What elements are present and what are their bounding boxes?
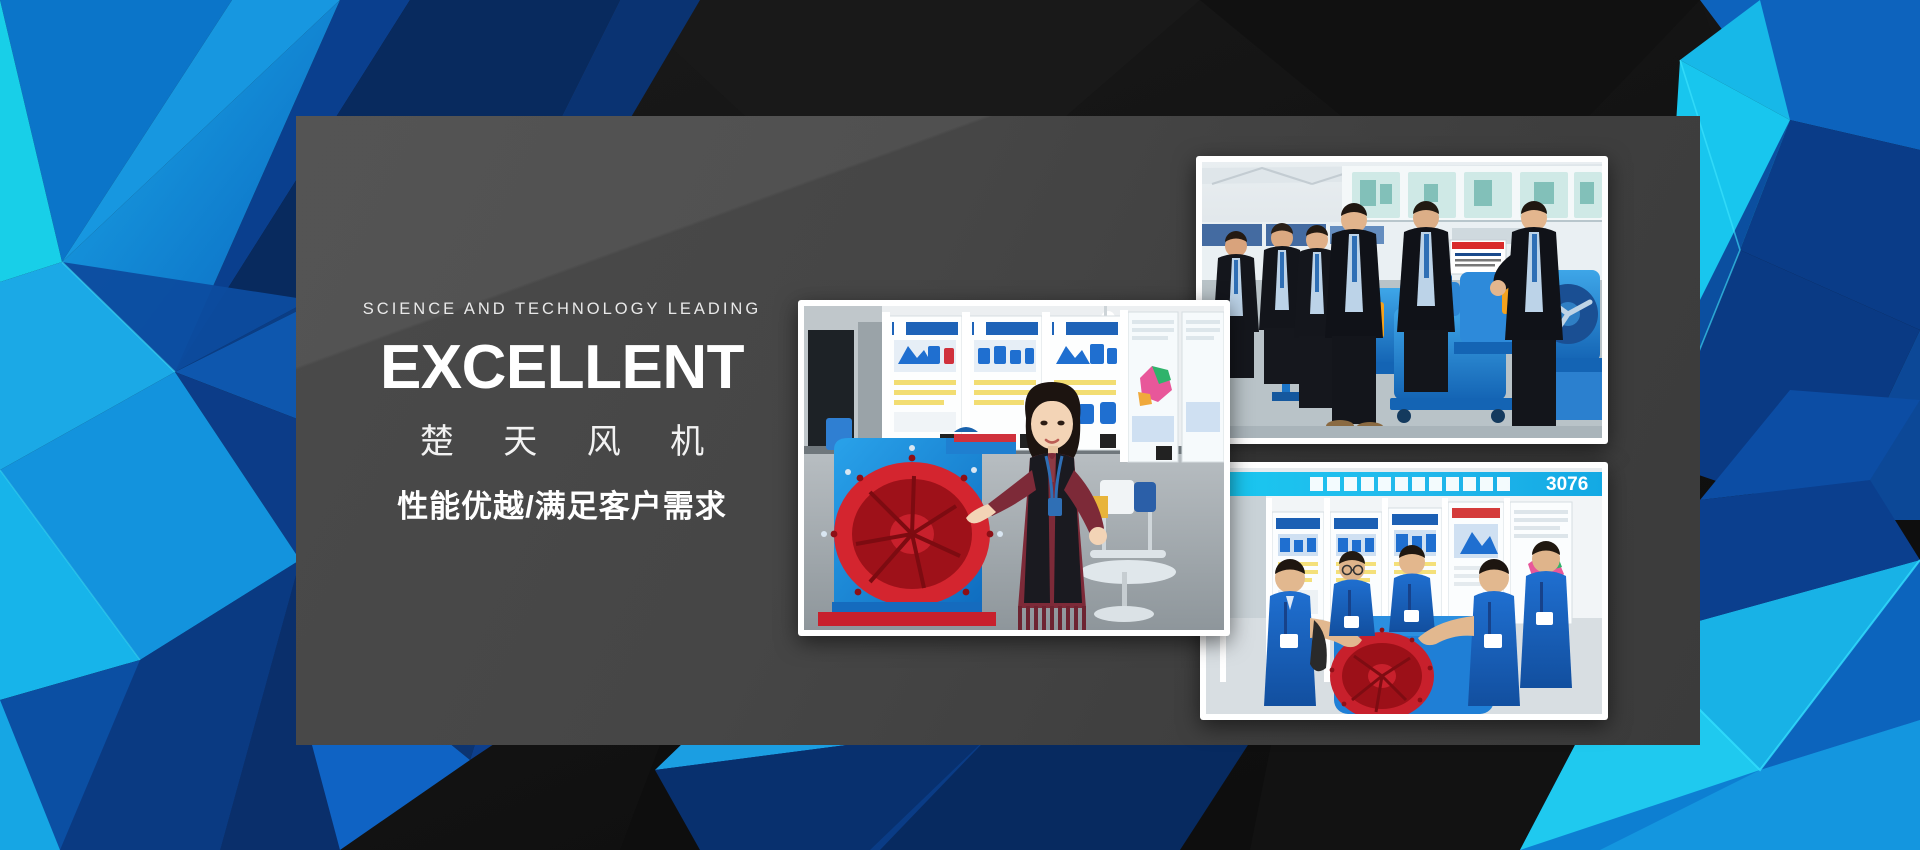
- team-blue-shirts-booth-photo: 3076: [1200, 462, 1608, 720]
- hero-banner: SCIENCE AND TECHNOLOGY LEADING EXCELLENT…: [0, 0, 1920, 850]
- hero-brand-chinese: 楚 天 风 机: [352, 425, 772, 459]
- hero-tagline-chinese: 性能优越/满足客户需求: [352, 491, 772, 522]
- presenter-with-fan-photo: [798, 300, 1230, 636]
- hero-headline: EXCELLENT: [352, 337, 772, 399]
- presenter-with-fan-illustration: [804, 306, 1224, 630]
- team-suits-expo-photo: [1196, 156, 1608, 444]
- team-blue-shirts-booth-illustration: 3076: [1206, 468, 1602, 714]
- team-suits-expo-illustration: [1202, 162, 1602, 438]
- hero-eyebrow: SCIENCE AND TECHNOLOGY LEADING: [352, 300, 772, 319]
- svg-text:3076: 3076: [1546, 474, 1588, 495]
- hero-text-block: SCIENCE AND TECHNOLOGY LEADING EXCELLENT…: [352, 300, 772, 522]
